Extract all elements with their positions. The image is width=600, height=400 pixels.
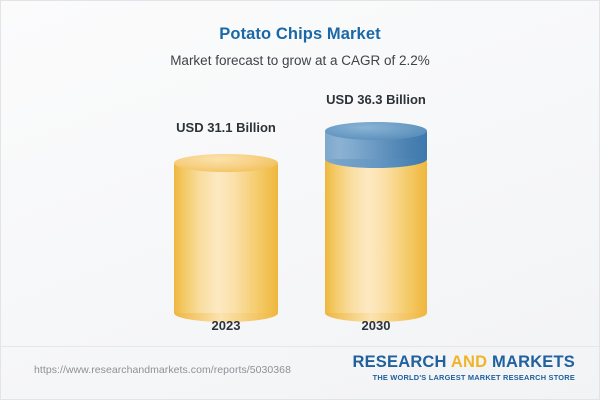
chart-plot-area: USD 31.1 Billion 2023 USD 36.3 Billion bbox=[1, 81, 600, 341]
chart-card: Potato Chips Market Market forecast to g… bbox=[0, 0, 600, 400]
logo-word-research: RESEARCH bbox=[352, 353, 446, 371]
cylinder-top-ellipse bbox=[174, 154, 278, 172]
bar-value-label-2023: USD 31.1 Billion bbox=[176, 120, 276, 135]
cylinder-body bbox=[174, 163, 278, 313]
logo-word-and: AND bbox=[451, 353, 487, 371]
footer: https://www.researchandmarkets.com/repor… bbox=[1, 346, 599, 399]
axis-label-2030: 2030 bbox=[362, 318, 391, 333]
bar-cylinder-2030-base bbox=[325, 141, 427, 322]
bar-group-2030[interactable]: USD 36.3 Billion 2030 bbox=[325, 81, 427, 341]
logo-word-markets: MARKETS bbox=[492, 353, 575, 371]
bar-group-2023[interactable]: USD 31.1 Billion 2023 bbox=[174, 81, 278, 341]
bar-cylinder-2030-growth bbox=[325, 122, 427, 168]
cylinder-top-ellipse bbox=[325, 122, 427, 140]
bar-cylinder-2023-base bbox=[174, 154, 278, 322]
page-title: Potato Chips Market bbox=[1, 25, 599, 44]
axis-label-2023: 2023 bbox=[212, 318, 241, 333]
research-and-markets-logo[interactable]: RESEARCH AND MARKETS THE WORLD'S LARGEST… bbox=[352, 353, 575, 382]
report-url-link[interactable]: https://www.researchandmarkets.com/repor… bbox=[34, 364, 291, 376]
logo-tagline: THE WORLD'S LARGEST MARKET RESEARCH STOR… bbox=[352, 373, 575, 382]
cylinder-body bbox=[325, 150, 427, 313]
chart-subtitle: Market forecast to grow at a CAGR of 2.2… bbox=[1, 53, 599, 68]
bar-value-label-2030: USD 36.3 Billion bbox=[326, 92, 426, 107]
logo-wordmark: RESEARCH AND MARKETS bbox=[352, 353, 575, 372]
